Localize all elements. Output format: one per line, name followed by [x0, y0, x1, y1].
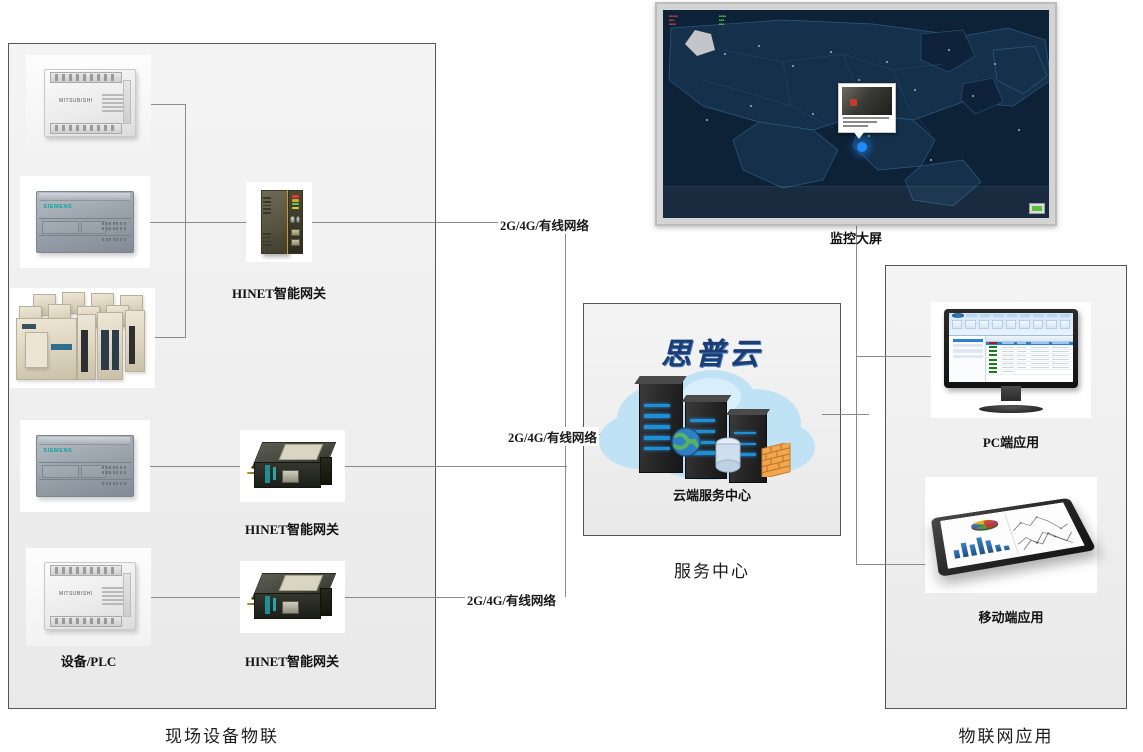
app-pc-monitor [931, 302, 1091, 418]
network-label-top: 2G/4G/有线网络 [498, 215, 591, 234]
cloud-center-caption: 云端服务中心 [583, 485, 841, 504]
cloud-graphic: 思普云 [583, 303, 841, 536]
link-vertical-bus-top [185, 104, 186, 338]
caption-pc-app: PC端应用 [931, 432, 1091, 451]
database-icon [715, 437, 741, 475]
link-plc5-gateway3 [148, 597, 240, 598]
link-bus-gateway1 [185, 222, 246, 223]
tablet-bar-chart [952, 531, 1011, 560]
gateway-hinet-box-1 [240, 430, 345, 502]
link-plc1-bus [148, 104, 186, 105]
gateway-hinet-box-2 [240, 561, 345, 633]
device-info-popup [838, 83, 896, 133]
app-mobile-tablet [925, 477, 1097, 593]
tablet-line-chart [1006, 505, 1081, 555]
map-legend-2: ■■■■■■■■■■ [719, 14, 726, 26]
link-network-top-down [565, 222, 566, 434]
panel-label-field: 现场设备物联 [8, 722, 436, 747]
bigscreen-taskbar [663, 186, 1049, 218]
gateway-hinet-din [246, 182, 312, 262]
globe-icon [671, 427, 701, 457]
bigscreen-map: ■■■■■■■■■■■■ ■■■■■■■■■■ [663, 10, 1049, 218]
diagram-canvas: 2G/4G/有线网络 2G/4G/有线网络 2G/4G/有线网络 MITSUBI… [0, 0, 1143, 752]
device-mitsubishi-compact-plc-2: MITSUBISHI [26, 548, 151, 646]
caption-mobile-app: 移动端应用 [925, 607, 1097, 626]
popup-device-text [843, 117, 891, 129]
bigscreen-status-badge [1029, 203, 1045, 214]
device-siemens-s7-1200-plc-2: SIEMENS [20, 420, 150, 512]
caption-bigscreen: 监控大屏 [655, 228, 1057, 247]
monitoring-bigscreen: ■■■■■■■■■■■■ ■■■■■■■■■■ [655, 2, 1057, 226]
map-legend-shape [681, 28, 721, 58]
link-apps-vertical-bus [856, 356, 857, 564]
link-gateway3-network [345, 597, 465, 598]
link-bus-pc-app [856, 356, 931, 357]
app-logo-orb [952, 313, 964, 318]
device-mitsubishi-rack-plc [10, 288, 155, 388]
firewall-icon [761, 443, 791, 477]
panel-label-apps: 物联网应用 [885, 722, 1127, 747]
caption-gateway-3: HINET智能网关 [227, 651, 357, 670]
link-gateway2-network [345, 466, 567, 467]
link-gateway1-network [312, 222, 498, 223]
caption-device-plc: 设备/PLC [26, 651, 151, 670]
link-plc4-gateway2 [148, 466, 240, 467]
caption-gateway-1: HINET智能网关 [214, 283, 344, 302]
link-bus-mobile-app [856, 564, 931, 565]
popup-device-photo [842, 87, 892, 115]
caption-gateway-2: HINET智能网关 [227, 519, 357, 538]
panel-label-cloud: 服务中心 [583, 557, 841, 582]
link-network-bottom-up [565, 466, 566, 597]
device-mitsubishi-compact-plc: MITSUBISHI [26, 55, 151, 153]
map-legend: ■■■■■■■■■■■■ [669, 14, 678, 26]
network-label-bottom: 2G/4G/有线网络 [465, 590, 558, 609]
popup-tail [853, 131, 865, 139]
map-location-pin [857, 142, 867, 152]
device-siemens-s7-1200-plc: SIEMENS [20, 176, 150, 268]
